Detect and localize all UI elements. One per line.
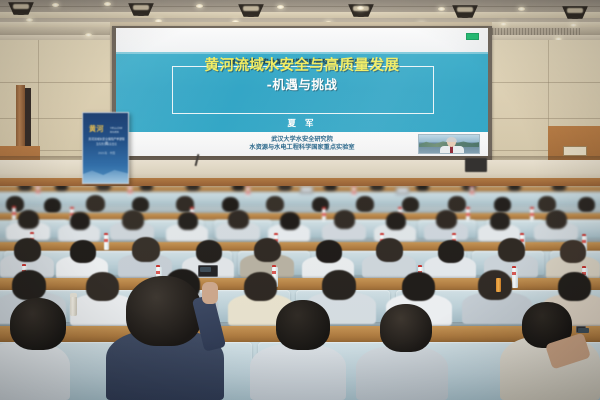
projection-screen: 黄河流域水安全保障产学研联盟及院所长联席会议 黄河流域水安全与高质量发展 -机遇… bbox=[116, 28, 488, 156]
audience-head bbox=[334, 210, 355, 229]
audience-shoulders bbox=[356, 346, 448, 400]
audience-head bbox=[490, 212, 510, 230]
audience-head bbox=[276, 300, 330, 350]
audience-head bbox=[178, 212, 198, 230]
water-bottle bbox=[530, 209, 534, 221]
audience-head bbox=[356, 196, 374, 212]
water-bottle bbox=[322, 209, 326, 221]
audience-head bbox=[386, 212, 406, 230]
audience-shoulders bbox=[0, 342, 70, 400]
audience-area bbox=[0, 186, 600, 400]
audience-hand bbox=[202, 282, 218, 304]
audience-head bbox=[498, 238, 525, 262]
audience-head bbox=[558, 272, 591, 301]
audience-head bbox=[436, 210, 457, 229]
audience-head bbox=[494, 197, 511, 212]
banner-date: 2021年 · 中国 bbox=[87, 151, 126, 155]
portrait-hair bbox=[446, 137, 457, 142]
rollup-banner: 黄河 YELLOW RIVER 黄河流域水安全保障产学研联盟 及院所长联席会议 … bbox=[82, 112, 129, 184]
audience-head bbox=[126, 276, 202, 346]
audience-head bbox=[86, 195, 105, 212]
audience-head bbox=[560, 240, 586, 263]
thermos-flask bbox=[70, 296, 77, 316]
laptop bbox=[300, 186, 313, 194]
downlight-icon bbox=[52, 3, 59, 7]
audience-head bbox=[546, 210, 567, 229]
banner-logo: 黄河 bbox=[89, 124, 104, 134]
audience-head bbox=[12, 270, 46, 300]
audience-head bbox=[132, 237, 160, 262]
water-bottle bbox=[470, 187, 474, 196]
downlight-icon bbox=[277, 5, 284, 9]
downlight-icon bbox=[500, 22, 507, 26]
audience-head bbox=[312, 197, 329, 212]
water-bottle bbox=[128, 186, 132, 195]
side-door[interactable] bbox=[16, 85, 25, 155]
side-door-opening bbox=[25, 88, 31, 155]
water-bottle bbox=[352, 187, 356, 196]
water-bottle bbox=[466, 209, 470, 221]
audience-head bbox=[44, 198, 61, 213]
slide-title-line2: -机遇与挑战 bbox=[116, 74, 488, 93]
audience-head bbox=[380, 304, 432, 352]
banner-logo-subtitle: YELLOW RIVER bbox=[110, 126, 128, 134]
water-bottle bbox=[104, 235, 109, 250]
water-bottle bbox=[246, 187, 250, 196]
wall-panel-seam bbox=[486, 118, 600, 119]
audience-head bbox=[376, 238, 403, 262]
audience-head bbox=[478, 270, 512, 300]
audience-head bbox=[228, 210, 249, 229]
conference-hall-photo: 黄河流域水安全保障产学研联盟及院所长联席会议 黄河流域水安全与高质量发展 -机遇… bbox=[0, 0, 600, 400]
audience-head bbox=[70, 212, 90, 230]
wall-sign bbox=[563, 146, 587, 156]
smartphone[interactable] bbox=[198, 265, 218, 277]
audience-head bbox=[316, 240, 342, 263]
downlight-icon bbox=[85, 33, 92, 37]
audience-head bbox=[244, 272, 277, 301]
audience-head bbox=[10, 298, 66, 350]
downlight-icon bbox=[570, 23, 577, 27]
loudspeaker bbox=[465, 158, 487, 172]
audience-head bbox=[322, 270, 356, 300]
slide-speaker-name: 夏 军 bbox=[116, 117, 488, 129]
audience-head bbox=[254, 238, 281, 262]
audience-head bbox=[448, 196, 466, 212]
audience-head bbox=[402, 272, 435, 301]
audience-head bbox=[14, 238, 41, 262]
audience-head bbox=[122, 210, 144, 230]
status-badge bbox=[466, 33, 479, 40]
portrait-tie bbox=[450, 146, 453, 154]
water-bottle bbox=[512, 268, 518, 288]
ceiling-panel-line bbox=[0, 6, 600, 7]
slide-title-panel: 黄河流域水安全保障产学研联盟及院所长联席会议 黄河流域水安全与高质量发展 -机遇… bbox=[116, 52, 488, 132]
audience-head bbox=[402, 197, 419, 212]
audience-head bbox=[70, 240, 96, 263]
audience-head bbox=[280, 212, 300, 230]
speaker-portrait bbox=[418, 134, 480, 154]
downlight-icon bbox=[438, 7, 445, 11]
audience-head bbox=[196, 240, 222, 263]
slide-title-line1: 黄河流域水安全与高质量发展 bbox=[116, 54, 488, 75]
audience-shoulders bbox=[250, 344, 346, 400]
downlight-icon bbox=[26, 18, 33, 22]
wristwatch bbox=[576, 326, 586, 333]
downlight-icon bbox=[357, 6, 364, 10]
downlight-icon bbox=[196, 4, 203, 8]
water-bottle bbox=[12, 208, 16, 220]
banner-wave-graphic bbox=[83, 163, 128, 183]
downlight-icon bbox=[518, 7, 525, 11]
downlight-icon bbox=[104, 2, 111, 6]
juice-bottle bbox=[496, 278, 501, 292]
slide-top-margin bbox=[116, 28, 488, 52]
banner-text-line2: 及院所长联席会议 bbox=[87, 142, 126, 146]
wall-panel-seam bbox=[486, 82, 600, 83]
audience-head bbox=[266, 196, 284, 212]
ceiling-beam bbox=[0, 12, 600, 18]
audience-head bbox=[86, 272, 119, 301]
laptop bbox=[396, 187, 409, 195]
slide-footer: 武汉大学水安全研究院 水资源与水电工程科学国家重点实验室 bbox=[116, 132, 488, 156]
wall-panel-seam bbox=[0, 82, 120, 83]
audience-head bbox=[578, 197, 595, 212]
audience-head bbox=[18, 210, 39, 229]
audience-head bbox=[438, 240, 464, 263]
water-bottle bbox=[36, 186, 40, 195]
